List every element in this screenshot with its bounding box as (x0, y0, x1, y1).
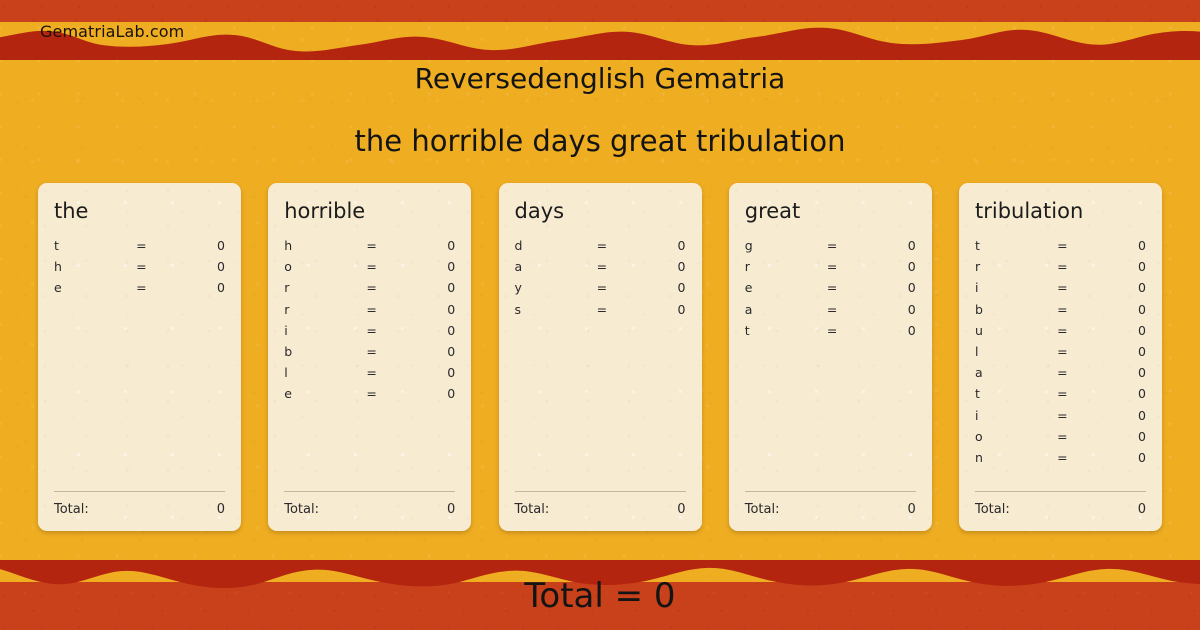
letter-value: 0 (165, 280, 225, 295)
letter-row: e = 0 (745, 280, 916, 301)
letter-value: 0 (1086, 450, 1146, 465)
letter-label: a (745, 302, 827, 317)
letter-value: 0 (1086, 323, 1146, 338)
card-total-value: 0 (677, 502, 685, 517)
letter-value: 0 (856, 238, 916, 253)
letter-label: d (515, 238, 597, 253)
equals-sign: = (827, 302, 856, 317)
equals-sign: = (1057, 429, 1086, 444)
card-total-value: 0 (1138, 502, 1146, 517)
letter-value: 0 (626, 280, 686, 295)
phrase-heading: the horrible days great tribulation (0, 124, 1200, 158)
letter-value: 0 (1086, 259, 1146, 274)
letter-value: 0 (395, 344, 455, 359)
letter-row: r = 0 (284, 302, 455, 323)
letter-value: 0 (856, 280, 916, 295)
letter-label: i (975, 280, 1057, 295)
letter-row: d = 0 (515, 238, 686, 259)
equals-sign: = (1057, 280, 1086, 295)
equals-sign: = (136, 259, 165, 274)
equals-sign: = (136, 280, 165, 295)
letter-row: b = 0 (975, 302, 1146, 323)
letter-rows: t = 0 h = 0 e = 0 (54, 238, 225, 487)
poster-canvas: GematriaLab.com Reversedenglish Gematria… (0, 0, 1200, 630)
letter-label: b (975, 302, 1057, 317)
letter-label: r (284, 280, 366, 295)
card-total-row: Total: 0 (54, 491, 225, 517)
equals-sign: = (1057, 323, 1086, 338)
letter-label: e (284, 386, 366, 401)
word-cards-container: the t = 0 h = 0 e = 0 Total (38, 183, 1162, 531)
letter-row: h = 0 (54, 259, 225, 280)
letter-value: 0 (1086, 408, 1146, 423)
equals-sign: = (366, 365, 395, 380)
letter-row: t = 0 (975, 238, 1146, 259)
equals-sign: = (366, 259, 395, 274)
equals-sign: = (827, 323, 856, 338)
card-total-row: Total: 0 (975, 491, 1146, 517)
letter-row: a = 0 (975, 365, 1146, 386)
equals-sign: = (366, 386, 395, 401)
letter-value: 0 (165, 259, 225, 274)
card-total-label: Total: (515, 502, 550, 517)
equals-sign: = (136, 238, 165, 253)
letter-value: 0 (395, 323, 455, 338)
letter-label: e (54, 280, 136, 295)
word-card: great g = 0 r = 0 e = 0 a (729, 183, 932, 531)
letter-value: 0 (856, 302, 916, 317)
letter-label: h (284, 238, 366, 253)
letter-label: t (975, 386, 1057, 401)
equals-sign: = (366, 302, 395, 317)
card-total-value: 0 (217, 502, 225, 517)
card-total-row: Total: 0 (284, 491, 455, 517)
letter-value: 0 (1086, 386, 1146, 401)
letter-value: 0 (1086, 429, 1146, 444)
letter-rows: g = 0 r = 0 e = 0 a = 0 (745, 238, 916, 487)
card-total-row: Total: 0 (745, 491, 916, 517)
letter-rows: h = 0 o = 0 r = 0 r = 0 (284, 238, 455, 487)
letter-value: 0 (395, 386, 455, 401)
letter-row: r = 0 (975, 259, 1146, 280)
equals-sign: = (1057, 365, 1086, 380)
card-total-value: 0 (907, 502, 915, 517)
letter-label: r (745, 259, 827, 274)
letter-value: 0 (856, 323, 916, 338)
equals-sign: = (366, 323, 395, 338)
letter-row: e = 0 (54, 280, 225, 301)
letter-label: s (515, 302, 597, 317)
letter-label: t (54, 238, 136, 253)
letter-value: 0 (1086, 365, 1146, 380)
letter-value: 0 (395, 302, 455, 317)
letter-row: l = 0 (284, 365, 455, 386)
letter-label: l (284, 365, 366, 380)
letter-row: t = 0 (745, 323, 916, 344)
word-card: days d = 0 a = 0 y = 0 s (499, 183, 702, 531)
letter-label: a (975, 365, 1057, 380)
letter-label: a (515, 259, 597, 274)
page-title: Reversedenglish Gematria (0, 62, 1200, 95)
letter-value: 0 (395, 259, 455, 274)
letter-row: y = 0 (515, 280, 686, 301)
equals-sign: = (1057, 302, 1086, 317)
letter-row: t = 0 (975, 386, 1146, 407)
word-card: horrible h = 0 o = 0 r = 0 r (268, 183, 471, 531)
card-word-title: days (515, 200, 686, 223)
letter-value: 0 (626, 302, 686, 317)
word-card: the t = 0 h = 0 e = 0 Total (38, 183, 241, 531)
letter-value: 0 (1086, 344, 1146, 359)
letter-label: o (975, 429, 1057, 444)
letter-row: s = 0 (515, 302, 686, 323)
letter-label: t (975, 238, 1057, 253)
letter-row: i = 0 (284, 323, 455, 344)
letter-label: e (745, 280, 827, 295)
letter-row: r = 0 (284, 280, 455, 301)
card-total-label: Total: (975, 502, 1010, 517)
letter-row: o = 0 (975, 429, 1146, 450)
letter-label: b (284, 344, 366, 359)
equals-sign: = (1057, 386, 1086, 401)
letter-label: n (975, 450, 1057, 465)
equals-sign: = (827, 259, 856, 274)
letter-label: i (284, 323, 366, 338)
letter-row: g = 0 (745, 238, 916, 259)
letter-row: o = 0 (284, 259, 455, 280)
letter-rows: d = 0 a = 0 y = 0 s = 0 (515, 238, 686, 487)
card-total-label: Total: (284, 502, 319, 517)
letter-value: 0 (1086, 238, 1146, 253)
equals-sign: = (1057, 344, 1086, 359)
letter-row: n = 0 (975, 450, 1146, 471)
letter-row: i = 0 (975, 408, 1146, 429)
equals-sign: = (597, 302, 626, 317)
letter-label: i (975, 408, 1057, 423)
letter-row: u = 0 (975, 323, 1146, 344)
letter-label: r (975, 259, 1057, 274)
letter-label: h (54, 259, 136, 274)
letter-value: 0 (626, 238, 686, 253)
letter-value: 0 (1086, 302, 1146, 317)
equals-sign: = (366, 344, 395, 359)
letter-value: 0 (165, 238, 225, 253)
card-word-title: the (54, 200, 225, 223)
card-word-title: horrible (284, 200, 455, 223)
card-word-title: tribulation (975, 200, 1146, 223)
letter-value: 0 (395, 365, 455, 380)
letter-row: h = 0 (284, 238, 455, 259)
letter-row: b = 0 (284, 344, 455, 365)
letter-row: t = 0 (54, 238, 225, 259)
equals-sign: = (597, 238, 626, 253)
equals-sign: = (1057, 238, 1086, 253)
letter-row: r = 0 (745, 259, 916, 280)
equals-sign: = (827, 238, 856, 253)
letter-label: g (745, 238, 827, 253)
letter-label: t (745, 323, 827, 338)
letter-label: o (284, 259, 366, 274)
letter-value: 0 (1086, 280, 1146, 295)
letter-value: 0 (856, 259, 916, 274)
card-total-value: 0 (447, 502, 455, 517)
letter-value: 0 (395, 238, 455, 253)
letter-value: 0 (626, 259, 686, 274)
letter-row: a = 0 (515, 259, 686, 280)
equals-sign: = (827, 280, 856, 295)
word-card: tribulation t = 0 r = 0 i = 0 (959, 183, 1162, 531)
card-total-label: Total: (54, 502, 89, 517)
letter-label: r (284, 302, 366, 317)
site-logo[interactable]: GematriaLab.com (40, 22, 184, 41)
card-total-row: Total: 0 (515, 491, 686, 517)
card-total-label: Total: (745, 502, 780, 517)
equals-sign: = (366, 280, 395, 295)
equals-sign: = (1057, 408, 1086, 423)
letter-label: y (515, 280, 597, 295)
letter-row: l = 0 (975, 344, 1146, 365)
letter-label: l (975, 344, 1057, 359)
letter-row: e = 0 (284, 386, 455, 407)
equals-sign: = (366, 238, 395, 253)
letter-row: a = 0 (745, 302, 916, 323)
grand-total: Total = 0 (0, 576, 1200, 616)
card-word-title: great (745, 200, 916, 223)
letter-row: i = 0 (975, 280, 1146, 301)
letter-label: u (975, 323, 1057, 338)
equals-sign: = (597, 259, 626, 274)
letter-value: 0 (395, 280, 455, 295)
letter-rows: t = 0 r = 0 i = 0 b = 0 (975, 238, 1146, 487)
equals-sign: = (1057, 450, 1086, 465)
equals-sign: = (597, 280, 626, 295)
equals-sign: = (1057, 259, 1086, 274)
